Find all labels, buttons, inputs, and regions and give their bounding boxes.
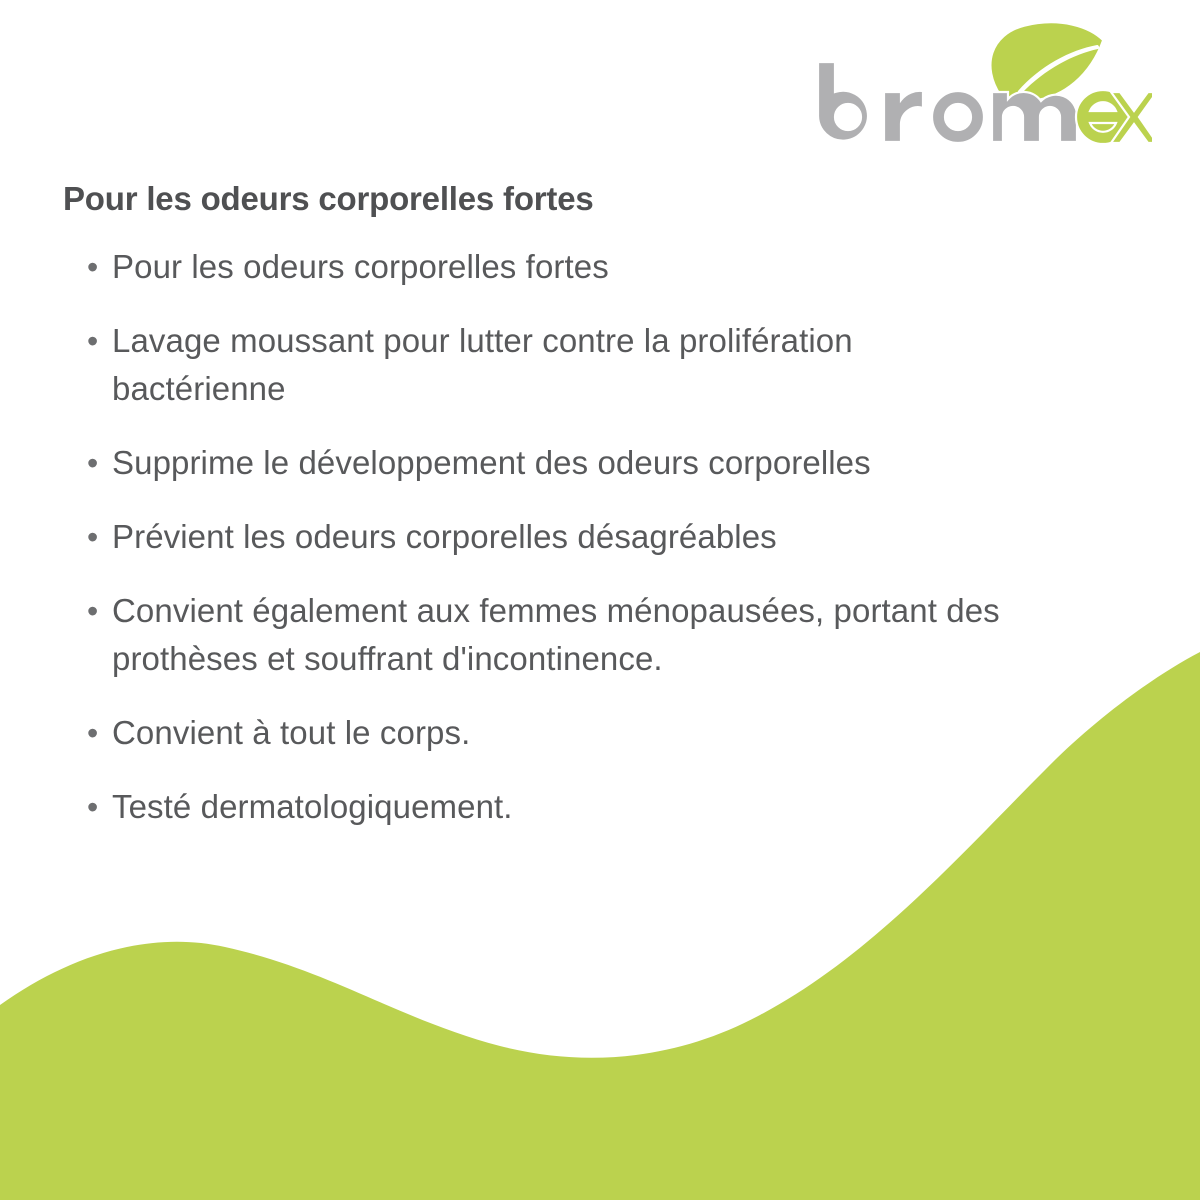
list-item-label: Lavage moussant pour lutter contre la pr… xyxy=(112,317,882,413)
list-item-label: Prévient les odeurs corporelles désagréa… xyxy=(112,513,1112,561)
list-item: • Lavage moussant pour lutter contre la … xyxy=(78,317,1138,413)
list-item-label: Convient également aux femmes ménopausée… xyxy=(112,587,1102,683)
bullet-icon: • xyxy=(78,709,112,757)
bullet-icon: • xyxy=(78,317,112,365)
list-item: • Testé dermatologiquement. xyxy=(78,783,1138,831)
bullet-icon: • xyxy=(78,513,112,561)
list-item-label: Testé dermatologiquement. xyxy=(112,783,1112,831)
list-item: • Supprime le développement des odeurs c… xyxy=(78,439,1138,487)
list-item-label: Supprime le développement des odeurs cor… xyxy=(112,439,927,487)
page-title: Pour les odeurs corporelles fortes xyxy=(63,180,594,218)
gray-wave-shape xyxy=(1060,955,1200,1200)
bullet-icon: • xyxy=(78,587,112,635)
list-item: • Convient à tout le corps. xyxy=(78,709,1138,757)
wordmark-ex xyxy=(1076,90,1152,144)
list-item-label: Pour les odeurs corporelles fortes xyxy=(112,243,872,291)
bullet-icon: • xyxy=(78,243,112,291)
list-item-label: Convient à tout le corps. xyxy=(112,709,1112,757)
slide-canvas: Pour les odeurs corporelles fortes • Pou… xyxy=(0,0,1200,1200)
list-item: • Convient également aux femmes ménopaus… xyxy=(78,587,1138,683)
bullet-icon: • xyxy=(78,439,112,487)
list-item: • Prévient les odeurs corporelles désagr… xyxy=(78,513,1138,561)
leaf-icon xyxy=(990,22,1104,102)
bullet-icon: • xyxy=(78,783,112,831)
list-item: • Pour les odeurs corporelles fortes xyxy=(78,243,1138,291)
brand-wordmark xyxy=(818,62,1152,144)
brand-logo xyxy=(812,18,1152,158)
feature-list: • Pour les odeurs corporelles fortes • L… xyxy=(78,243,1138,857)
